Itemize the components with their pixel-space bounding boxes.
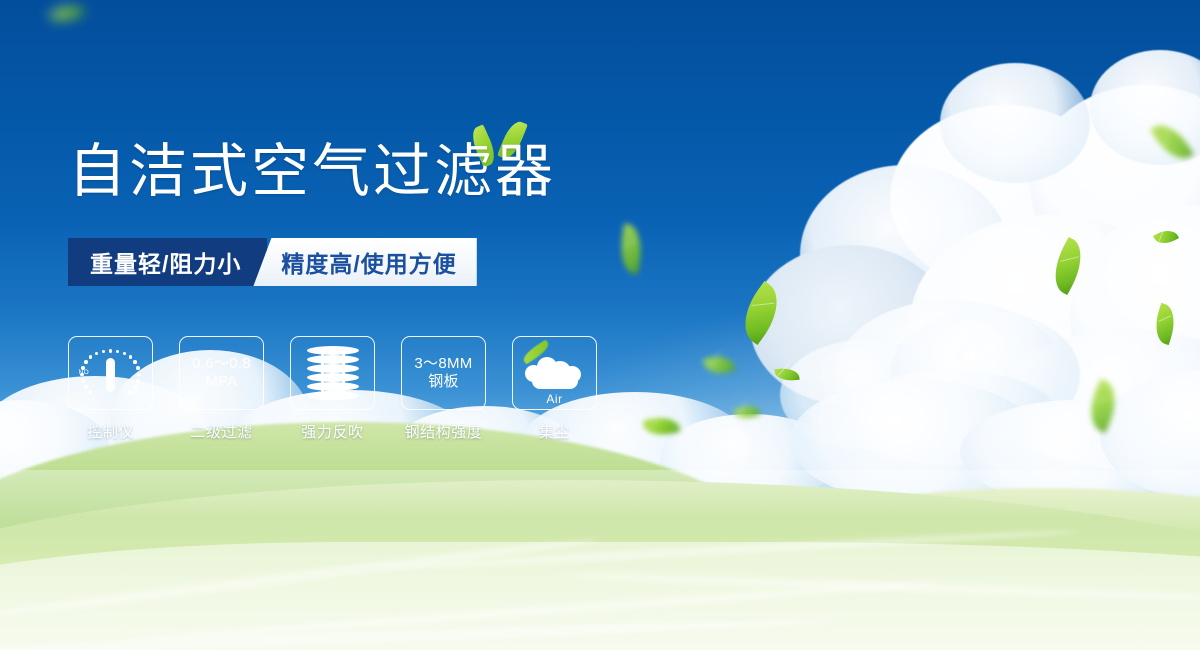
- grass-landscape: [0, 410, 1200, 650]
- air-cloud-icon: Air: [525, 353, 585, 393]
- feature-item-pulse-blowback[interactable]: 强力反吹: [290, 336, 375, 442]
- feature-item-dust-collection[interactable]: Air 集尘: [512, 336, 597, 442]
- feature-label-two-stage-filter: 二级过滤: [190, 421, 252, 442]
- subtitle-right-tag: 精度高/使用方便: [253, 238, 476, 286]
- filter-stack-icon-box: [290, 336, 375, 410]
- dial-off-label: OFF: [128, 389, 143, 398]
- filter-stack-icon: [307, 346, 359, 400]
- pressure-value-line1: 0.6～0.8: [192, 355, 251, 373]
- feature-item-control-panel[interactable]: NO OFF 控制仪: [68, 336, 153, 442]
- air-cloud-icon-box: Air: [512, 336, 597, 410]
- dial-needle: [106, 358, 115, 392]
- feature-item-steel-strength[interactable]: 3～8MM 钢板 钢结构强度: [401, 336, 486, 442]
- air-cloud-label: Air: [525, 392, 585, 406]
- steel-plate-icon-box: 3～8MM 钢板: [401, 336, 486, 410]
- subtitle-bar: 重量轻/阻力小 精度高/使用方便: [68, 238, 477, 286]
- control-dial-icon: NO OFF: [80, 345, 142, 401]
- feature-label-dust-collection: 集尘: [539, 421, 570, 442]
- pressure-value-line2: MPA: [205, 373, 237, 391]
- feature-label-control-panel: 控制仪: [87, 421, 134, 442]
- feature-label-pulse-blowback: 强力反吹: [301, 421, 363, 442]
- control-dial-icon-box: NO OFF: [68, 336, 153, 410]
- subtitle-left-tag: 重量轻/阻力小: [68, 238, 267, 286]
- feature-list: NO OFF 控制仪 0.6～0.8 MPA 二级过滤: [68, 336, 597, 442]
- steel-plate-line1: 3～8MM: [414, 355, 472, 373]
- feature-label-steel-strength: 钢结构强度: [404, 421, 482, 442]
- product-banner: 自洁式空气过滤器 重量轻/阻力小 精度高/使用方便: [0, 0, 1200, 650]
- steel-plate-line2: 钢板: [428, 373, 459, 391]
- dial-no-label: NO: [79, 369, 90, 376]
- pressure-value-icon-box: 0.6～0.8 MPA: [179, 336, 264, 410]
- feature-item-two-stage-filter[interactable]: 0.6～0.8 MPA 二级过滤: [179, 336, 264, 442]
- page-title: 自洁式空气过滤器: [68, 143, 556, 201]
